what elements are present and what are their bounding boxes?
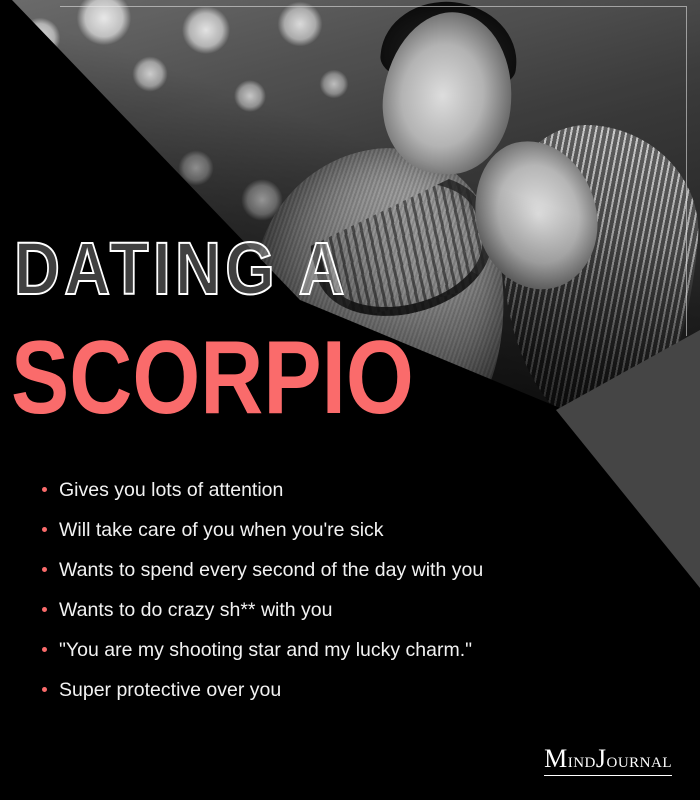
bullet-dot-icon — [42, 567, 47, 572]
bullet-dot-icon — [42, 647, 47, 652]
list-item: "You are my shooting star and my lucky c… — [42, 638, 642, 662]
brand-logo-ournal: ournal — [607, 748, 673, 772]
list-item: Super protective over you — [42, 678, 642, 702]
list-item-label: Will take care of you when you're sick — [59, 519, 384, 541]
list-item-label: Super protective over you — [59, 679, 281, 701]
headline-line-2: SCORPIO — [11, 326, 414, 430]
bullet-dot-icon — [42, 607, 47, 612]
list-item-label: "You are my shooting star and my lucky c… — [59, 639, 472, 661]
poster-canvas: DATING A SCORPIO Gives you lots of atten… — [0, 0, 700, 800]
bullet-dot-icon — [42, 687, 47, 692]
frame-line-right — [686, 6, 687, 336]
brand-logo-wordmark: MindJournal — [544, 746, 672, 772]
list-item: Gives you lots of attention — [42, 478, 642, 502]
list-item-label: Gives you lots of attention — [59, 479, 283, 501]
list-item: Will take care of you when you're sick — [42, 518, 642, 542]
bullet-dot-icon — [42, 527, 47, 532]
brand-logo-underline — [544, 775, 672, 776]
frame-line-top — [60, 6, 686, 7]
bullet-dot-icon — [42, 487, 47, 492]
brand-logo-ind: ind — [568, 748, 596, 772]
list-item: Wants to spend every second of the day w… — [42, 558, 642, 582]
brand-logo-cap-j: J — [596, 744, 607, 773]
traits-list: Gives you lots of attention Will take ca… — [42, 478, 642, 718]
headline-line-1: DATING A — [14, 232, 349, 306]
brand-logo-cap-m: M — [544, 744, 568, 773]
list-item-label: Wants to spend every second of the day w… — [59, 559, 483, 581]
list-item-label: Wants to do crazy sh** with you — [59, 599, 332, 621]
brand-logo: MindJournal — [544, 746, 672, 776]
list-item: Wants to do crazy sh** with you — [42, 598, 642, 622]
